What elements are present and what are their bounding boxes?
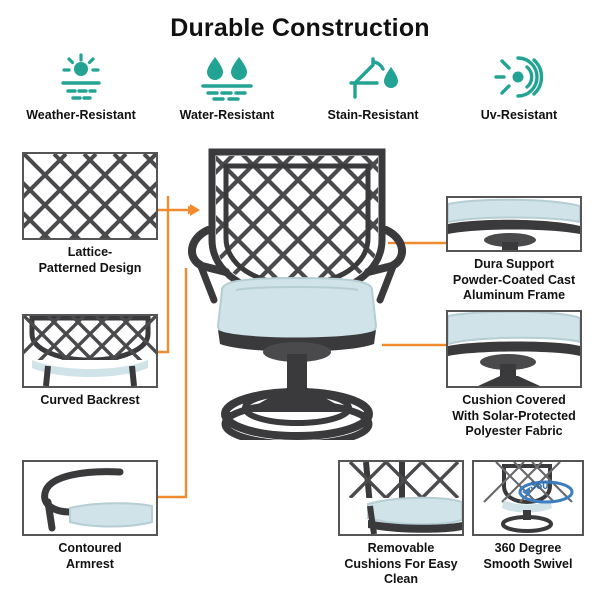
callout-caption: 360 Degree Smooth Swivel: [472, 541, 584, 572]
callout-caption: Lattice- Patterned Design: [22, 245, 158, 276]
feature-weather-resistant: Weather-Resistant: [12, 52, 150, 122]
page-title: Durable Construction: [0, 14, 600, 43]
feature-row: Weather-Resistant: [12, 52, 588, 122]
dura-support-thumbnail: [446, 196, 582, 252]
badge-360-label: 360°: [530, 480, 553, 492]
callout-caption: Dura Support Powder-Coated Cast Aluminum…: [446, 257, 582, 304]
infographic-page: Durable Construction: [0, 0, 600, 600]
callout-lattice-patterned-design: Lattice- Patterned Design: [22, 152, 158, 276]
feature-label: Stain-Resistant: [304, 108, 442, 122]
feature-label: Water-Resistant: [158, 108, 296, 122]
uv-resistant-icon: [450, 52, 588, 102]
callout-caption: Curved Backrest: [22, 393, 158, 409]
callout-caption: Cushion Covered With Solar-Protected Pol…: [446, 393, 582, 440]
curved-backrest-thumbnail: [22, 314, 158, 388]
callout-smooth-swivel: 360° 360 Degree Smooth Swivel: [472, 460, 584, 572]
main-product-image: [178, 140, 423, 440]
weather-resistant-icon: [12, 52, 150, 102]
cushion-fabric-thumbnail: [446, 310, 582, 388]
callout-cushion-fabric: Cushion Covered With Solar-Protected Pol…: [446, 310, 582, 440]
feature-label: Uv-Resistant: [450, 108, 588, 122]
callout-caption: Contoured Armrest: [22, 541, 158, 572]
callout-caption: Removable Cushions For Easy Clean: [338, 541, 464, 588]
stain-resistant-icon: [304, 52, 442, 102]
callout-contoured-armrest: Contoured Armrest: [22, 460, 158, 572]
water-resistant-icon: [158, 52, 296, 102]
feature-stain-resistant: Stain-Resistant: [304, 52, 442, 122]
lattice-thumbnail: [22, 152, 158, 240]
callout-curved-backrest: Curved Backrest: [22, 314, 158, 409]
smooth-swivel-thumbnail: 360°: [472, 460, 584, 536]
callout-removable-cushions: Removable Cushions For Easy Clean: [338, 460, 464, 588]
removable-cushions-thumbnail: [338, 460, 464, 536]
contoured-armrest-thumbnail: [22, 460, 158, 536]
feature-label: Weather-Resistant: [12, 108, 150, 122]
callout-dura-support-frame: Dura Support Powder-Coated Cast Aluminum…: [446, 196, 582, 304]
feature-uv-resistant: Uv-Resistant: [450, 52, 588, 122]
feature-water-resistant: Water-Resistant: [158, 52, 296, 122]
